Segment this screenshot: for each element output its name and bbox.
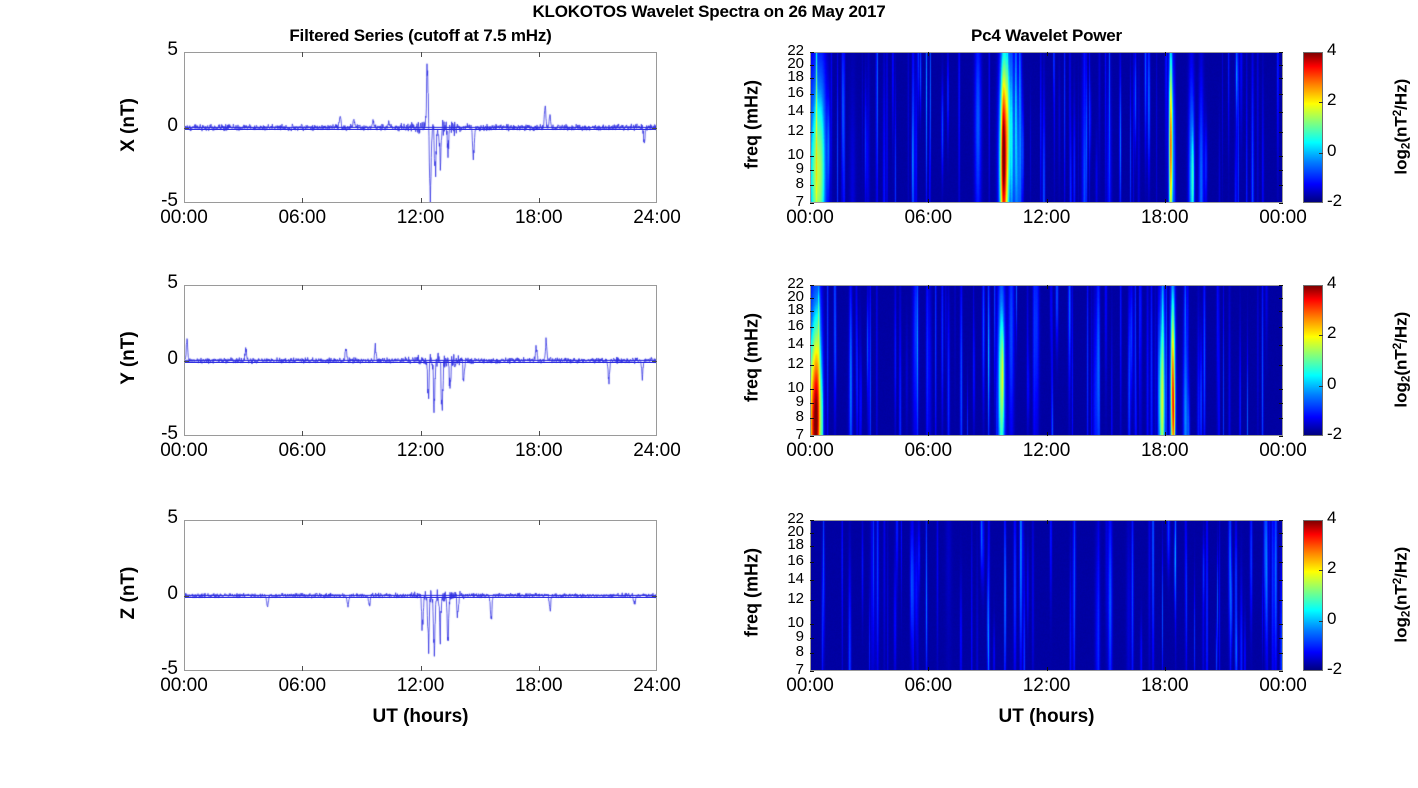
timeseries-x-tick-label: 12:00 bbox=[373, 440, 469, 462]
x-tick-mark bbox=[421, 198, 422, 203]
y-tick-mark bbox=[1279, 624, 1283, 625]
y-tick-mark bbox=[810, 156, 814, 157]
x-tick-mark bbox=[928, 520, 929, 524]
colorbar-tick-mark bbox=[1319, 386, 1323, 387]
timeseries-plot-x bbox=[184, 52, 657, 203]
y-tick-mark bbox=[1279, 403, 1283, 404]
spectrogram-y-tick-label: 8 bbox=[768, 408, 804, 425]
spectrogram-image bbox=[811, 521, 1282, 670]
x-tick-mark bbox=[539, 285, 540, 290]
timeseries-y-axis-label-x: X (nT) bbox=[118, 45, 140, 205]
colorbar-tick-label: 4 bbox=[1327, 508, 1336, 528]
x-tick-mark bbox=[928, 285, 929, 289]
spectrogram-y-axis-label: freq (mHz) bbox=[742, 512, 763, 672]
y-tick-mark bbox=[1279, 203, 1283, 204]
y-tick-mark bbox=[1279, 52, 1283, 53]
colorbar-tick-label: -2 bbox=[1327, 191, 1342, 211]
timeseries-x-tick-label: 12:00 bbox=[373, 207, 469, 229]
x-tick-mark bbox=[539, 666, 540, 671]
x-tick-mark bbox=[302, 285, 303, 290]
y-tick-mark bbox=[810, 403, 814, 404]
y-tick-mark bbox=[810, 345, 814, 346]
x-tick-mark bbox=[1165, 520, 1166, 524]
colorbar-tick-label: -2 bbox=[1327, 659, 1342, 679]
y-tick-mark bbox=[1279, 436, 1283, 437]
x-tick-mark bbox=[1047, 432, 1048, 436]
y-tick-mark bbox=[810, 94, 814, 95]
y-tick-mark bbox=[810, 600, 814, 601]
timeseries-trace bbox=[185, 286, 656, 435]
timeseries-x-tick-label: 18:00 bbox=[491, 207, 587, 229]
spectrogram-y-axis-label: freq (mHz) bbox=[742, 277, 763, 437]
y-tick-mark bbox=[1279, 345, 1283, 346]
x-tick-mark bbox=[421, 52, 422, 57]
y-tick-mark bbox=[810, 638, 814, 639]
timeseries-plot-z bbox=[184, 520, 657, 671]
y-tick-mark bbox=[1279, 285, 1283, 286]
y-tick-mark bbox=[810, 52, 814, 53]
spectrogram-x-tick-label: 18:00 bbox=[1117, 207, 1213, 229]
y-tick-mark bbox=[1279, 156, 1283, 157]
y-tick-mark bbox=[184, 361, 189, 362]
spectrogram-y-tick-label: 9 bbox=[768, 393, 804, 410]
spectrogram-x-tick-label: 06:00 bbox=[880, 207, 976, 229]
x-tick-mark bbox=[1047, 667, 1048, 671]
wavelet-spectrogram-z bbox=[810, 520, 1283, 671]
timeseries-x-tick-label: 06:00 bbox=[254, 675, 350, 697]
x-tick-mark bbox=[302, 198, 303, 203]
wavelet-spectrogram-x bbox=[810, 52, 1283, 203]
x-tick-mark bbox=[928, 199, 929, 203]
y-tick-mark bbox=[810, 671, 814, 672]
spectrogram-y-tick-label: 16 bbox=[768, 317, 804, 334]
spectrogram-xaxis-label: UT (hours) bbox=[810, 706, 1283, 728]
y-tick-mark bbox=[184, 128, 189, 129]
timeseries-x-tick-label: 18:00 bbox=[491, 440, 587, 462]
spectrogram-x-tick-label: 18:00 bbox=[1117, 675, 1213, 697]
colorbar-tick-label: 2 bbox=[1327, 90, 1336, 110]
timeseries-x-tick-label: 24:00 bbox=[609, 675, 705, 697]
y-tick-mark bbox=[810, 285, 814, 286]
spectrogram-y-tick-label: 8 bbox=[768, 175, 804, 192]
spectrogram-y-tick-label: 18 bbox=[768, 68, 804, 85]
y-tick-mark bbox=[1279, 418, 1283, 419]
timeseries-plot-y bbox=[184, 285, 657, 436]
y-tick-mark bbox=[810, 624, 814, 625]
x-tick-mark bbox=[539, 520, 540, 525]
y-tick-mark bbox=[810, 185, 814, 186]
y-tick-mark bbox=[1279, 327, 1283, 328]
colorbar bbox=[1303, 520, 1323, 671]
timeseries-trace bbox=[185, 53, 656, 202]
y-tick-mark bbox=[652, 596, 657, 597]
y-tick-mark bbox=[1279, 546, 1283, 547]
x-tick-mark bbox=[1165, 199, 1166, 203]
spectrogram-x-tick-label: 06:00 bbox=[880, 440, 976, 462]
spectrogram-x-tick-label: 00:00 bbox=[762, 675, 858, 697]
spectrogram-y-tick-label: 8 bbox=[768, 643, 804, 660]
colorbar-label: log2(nT2/Hz) bbox=[1391, 284, 1412, 434]
spectrogram-x-tick-label: 00:00 bbox=[762, 440, 858, 462]
x-tick-mark bbox=[421, 431, 422, 436]
colorbar-tick-label: 0 bbox=[1327, 141, 1336, 161]
spectrogram-x-tick-label: 06:00 bbox=[880, 675, 976, 697]
y-tick-mark bbox=[810, 365, 814, 366]
y-tick-mark bbox=[652, 128, 657, 129]
x-tick-mark bbox=[1047, 199, 1048, 203]
right-column-title: Pc4 Wavelet Power bbox=[810, 26, 1283, 46]
x-tick-mark bbox=[928, 52, 929, 56]
left-column-title: Filtered Series (cutoff at 7.5 mHz) bbox=[184, 26, 657, 46]
y-tick-mark bbox=[810, 132, 814, 133]
spectrogram-x-tick-label: 00:00 bbox=[1235, 440, 1331, 462]
colorbar bbox=[1303, 285, 1323, 436]
spectrogram-x-tick-label: 12:00 bbox=[999, 207, 1095, 229]
y-tick-mark bbox=[1279, 533, 1283, 534]
y-tick-mark bbox=[810, 580, 814, 581]
y-tick-mark bbox=[184, 596, 189, 597]
spectrogram-x-tick-label: 18:00 bbox=[1117, 440, 1213, 462]
y-tick-mark bbox=[1279, 311, 1283, 312]
y-tick-mark bbox=[810, 520, 814, 521]
spectrogram-image bbox=[811, 53, 1282, 202]
y-tick-mark bbox=[1279, 298, 1283, 299]
y-tick-mark bbox=[810, 327, 814, 328]
timeseries-trace bbox=[185, 521, 656, 670]
spectrogram-y-tick-label: 9 bbox=[768, 628, 804, 645]
figure-canvas: KLOKOTOS Wavelet Spectra on 26 May 2017 … bbox=[0, 0, 1418, 788]
x-tick-mark bbox=[1047, 285, 1048, 289]
colorbar-tick-label: 2 bbox=[1327, 323, 1336, 343]
y-tick-mark bbox=[1279, 132, 1283, 133]
timeseries-xaxis-label: UT (hours) bbox=[184, 706, 657, 728]
spectrogram-y-tick-label: 14 bbox=[768, 335, 804, 352]
colorbar-tick-mark bbox=[1319, 570, 1323, 571]
y-tick-mark bbox=[810, 203, 814, 204]
x-tick-mark bbox=[539, 431, 540, 436]
colorbar-tick-mark bbox=[1319, 335, 1323, 336]
y-tick-mark bbox=[1279, 638, 1283, 639]
x-tick-mark bbox=[421, 520, 422, 525]
spectrogram-y-tick-label: 14 bbox=[768, 570, 804, 587]
timeseries-y-axis-label-z: Z (nT) bbox=[118, 513, 140, 673]
colorbar-tick-label: 0 bbox=[1327, 374, 1336, 394]
x-tick-mark bbox=[928, 667, 929, 671]
spectrogram-y-tick-label: 12 bbox=[768, 122, 804, 139]
colorbar-tick-label: 4 bbox=[1327, 273, 1336, 293]
y-tick-mark bbox=[1279, 653, 1283, 654]
spectrogram-x-tick-label: 12:00 bbox=[999, 440, 1095, 462]
y-tick-mark bbox=[810, 533, 814, 534]
x-tick-mark bbox=[539, 52, 540, 57]
colorbar-label: log2(nT2/Hz) bbox=[1391, 51, 1412, 201]
y-tick-mark bbox=[810, 78, 814, 79]
y-tick-mark bbox=[1279, 671, 1283, 672]
y-tick-mark bbox=[1279, 94, 1283, 95]
x-tick-mark bbox=[1165, 52, 1166, 56]
y-tick-mark bbox=[1279, 185, 1283, 186]
y-tick-mark bbox=[810, 418, 814, 419]
y-tick-mark bbox=[1279, 112, 1283, 113]
y-tick-mark bbox=[1279, 562, 1283, 563]
spectrogram-y-tick-label: 18 bbox=[768, 536, 804, 553]
colorbar-tick-label: 0 bbox=[1327, 609, 1336, 629]
x-tick-mark bbox=[539, 198, 540, 203]
y-tick-mark bbox=[1279, 580, 1283, 581]
x-tick-mark bbox=[421, 285, 422, 290]
x-tick-mark bbox=[302, 666, 303, 671]
x-tick-mark bbox=[928, 432, 929, 436]
spectrogram-x-tick-label: 00:00 bbox=[762, 207, 858, 229]
y-tick-mark bbox=[1279, 600, 1283, 601]
timeseries-y-axis-label-y: Y (nT) bbox=[118, 278, 140, 438]
spectrogram-y-tick-label: 14 bbox=[768, 102, 804, 119]
timeseries-x-tick-label: 18:00 bbox=[491, 675, 587, 697]
colorbar-tick-mark bbox=[1319, 621, 1323, 622]
colorbar-tick-label: 2 bbox=[1327, 558, 1336, 578]
y-tick-mark bbox=[810, 436, 814, 437]
y-tick-mark bbox=[810, 562, 814, 563]
colorbar-tick-label: -2 bbox=[1327, 424, 1342, 444]
timeseries-x-tick-label: 06:00 bbox=[254, 440, 350, 462]
spectrogram-y-axis-label: freq (mHz) bbox=[742, 44, 763, 204]
wavelet-spectrogram-y bbox=[810, 285, 1283, 436]
spectrogram-y-tick-label: 18 bbox=[768, 301, 804, 318]
spectrogram-y-tick-label: 12 bbox=[768, 355, 804, 372]
y-tick-mark bbox=[1279, 65, 1283, 66]
colorbar-tick-mark bbox=[1319, 153, 1323, 154]
x-tick-mark bbox=[302, 52, 303, 57]
timeseries-x-tick-label: 00:00 bbox=[136, 675, 232, 697]
figure-title: KLOKOTOS Wavelet Spectra on 26 May 2017 bbox=[0, 2, 1418, 22]
x-tick-mark bbox=[421, 666, 422, 671]
y-tick-mark bbox=[810, 311, 814, 312]
spectrogram-y-tick-label: 9 bbox=[768, 160, 804, 177]
y-tick-mark bbox=[810, 298, 814, 299]
timeseries-x-tick-label: 24:00 bbox=[609, 207, 705, 229]
x-tick-mark bbox=[1165, 432, 1166, 436]
colorbar-tick-mark bbox=[1319, 102, 1323, 103]
x-tick-mark bbox=[1165, 667, 1166, 671]
spectrogram-x-tick-label: 12:00 bbox=[999, 675, 1095, 697]
x-tick-mark bbox=[302, 520, 303, 525]
colorbar-label: log2(nT2/Hz) bbox=[1391, 519, 1412, 669]
x-tick-mark bbox=[1165, 285, 1166, 289]
spectrogram-x-tick-label: 00:00 bbox=[1235, 675, 1331, 697]
y-tick-mark bbox=[1279, 365, 1283, 366]
y-tick-mark bbox=[810, 546, 814, 547]
colorbar bbox=[1303, 52, 1323, 203]
timeseries-x-tick-label: 00:00 bbox=[136, 440, 232, 462]
y-tick-mark bbox=[810, 112, 814, 113]
y-tick-mark bbox=[810, 389, 814, 390]
timeseries-x-tick-label: 24:00 bbox=[609, 440, 705, 462]
spectrogram-x-tick-label: 00:00 bbox=[1235, 207, 1331, 229]
y-tick-mark bbox=[810, 653, 814, 654]
spectrogram-y-tick-label: 16 bbox=[768, 552, 804, 569]
y-tick-mark bbox=[810, 170, 814, 171]
spectrogram-image bbox=[811, 286, 1282, 435]
x-tick-mark bbox=[1047, 52, 1048, 56]
y-tick-mark bbox=[652, 361, 657, 362]
spectrogram-y-tick-label: 16 bbox=[768, 84, 804, 101]
y-tick-mark bbox=[1279, 389, 1283, 390]
y-tick-mark bbox=[1279, 78, 1283, 79]
spectrogram-y-tick-label: 12 bbox=[768, 590, 804, 607]
x-tick-mark bbox=[1047, 520, 1048, 524]
timeseries-x-tick-label: 12:00 bbox=[373, 675, 469, 697]
colorbar-tick-label: 4 bbox=[1327, 40, 1336, 60]
x-tick-mark bbox=[302, 431, 303, 436]
y-tick-mark bbox=[1279, 520, 1283, 521]
timeseries-x-tick-label: 06:00 bbox=[254, 207, 350, 229]
timeseries-x-tick-label: 00:00 bbox=[136, 207, 232, 229]
y-tick-mark bbox=[810, 65, 814, 66]
y-tick-mark bbox=[1279, 170, 1283, 171]
